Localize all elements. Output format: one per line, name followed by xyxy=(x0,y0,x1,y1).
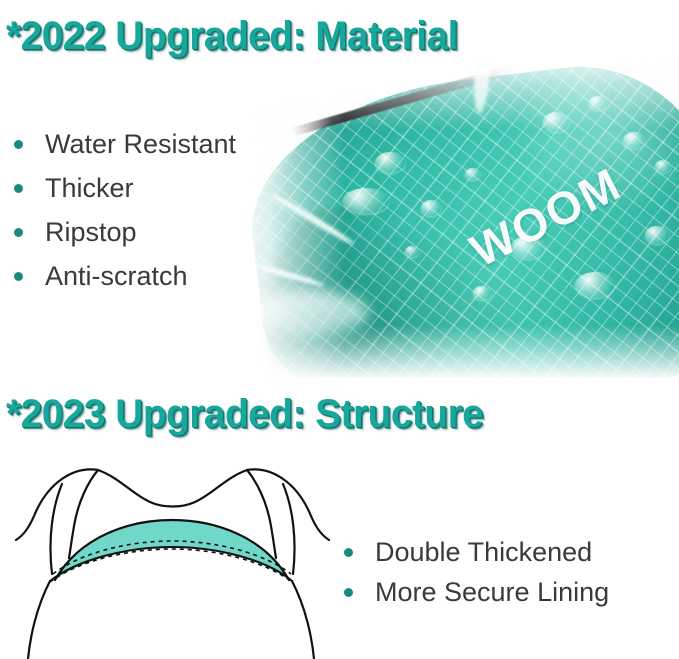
list-item: Anti-scratch xyxy=(14,254,236,298)
list-item: Water Resistant xyxy=(14,122,236,166)
bag-side-right xyxy=(292,581,314,659)
water-droplet-icon xyxy=(623,132,645,149)
water-droplet-icon xyxy=(645,226,669,244)
list-item-label: Water Resistant xyxy=(45,131,236,158)
list-item-label: Double Thickened xyxy=(375,539,592,566)
bag-side-left xyxy=(28,581,50,659)
strap-icon xyxy=(283,484,295,574)
water-droplet-icon xyxy=(421,200,441,216)
strap-icon xyxy=(16,469,98,540)
heading-structure: *2023 Upgraded: Structure xyxy=(6,394,483,434)
heading-material: *2022 Upgraded: Material xyxy=(6,16,458,56)
strap-icon xyxy=(247,469,329,540)
water-droplet-icon xyxy=(575,272,615,298)
water-droplet-icon xyxy=(655,160,671,173)
list-item-label: Anti-scratch xyxy=(45,263,188,290)
water-droplet-icon xyxy=(375,152,405,173)
water-droplet-icon xyxy=(465,168,480,180)
bullet-dot-icon xyxy=(14,272,23,281)
bullet-dot-icon xyxy=(14,184,23,193)
water-droplet-icon xyxy=(473,286,491,300)
strap-icon xyxy=(50,484,62,574)
lining-band-icon xyxy=(55,520,289,580)
feature-list-structure: Double Thickened More Secure Lining xyxy=(344,532,609,612)
water-droplet-icon xyxy=(405,246,419,257)
infographic-page: WOOM *2022 Upgraded: Materia xyxy=(0,0,679,659)
water-droplet-icon xyxy=(511,236,545,259)
collar-curve xyxy=(98,470,247,507)
bullet-dot-icon xyxy=(14,228,23,237)
list-item-label: Thicker xyxy=(45,175,134,202)
list-item: More Secure Lining xyxy=(344,572,609,612)
product-photo-material: WOOM xyxy=(225,40,679,378)
feature-list-material: Water Resistant Thicker Ripstop Anti-scr… xyxy=(14,122,236,298)
bag-outline-icon xyxy=(0,448,345,659)
list-item: Thicker xyxy=(14,166,236,210)
photo-fade-bottom xyxy=(225,325,679,378)
structure-diagram xyxy=(0,448,345,659)
bullet-dot-icon xyxy=(344,548,353,557)
water-droplet-icon xyxy=(343,188,389,214)
bullet-dot-icon xyxy=(344,588,353,597)
list-item-label: More Secure Lining xyxy=(375,579,609,606)
list-item: Double Thickened xyxy=(344,532,609,572)
list-item-label: Ripstop xyxy=(45,219,137,246)
bullet-dot-icon xyxy=(14,140,23,149)
list-item: Ripstop xyxy=(14,210,236,254)
section-material: WOOM *2022 Upgraded: Materia xyxy=(0,0,679,378)
